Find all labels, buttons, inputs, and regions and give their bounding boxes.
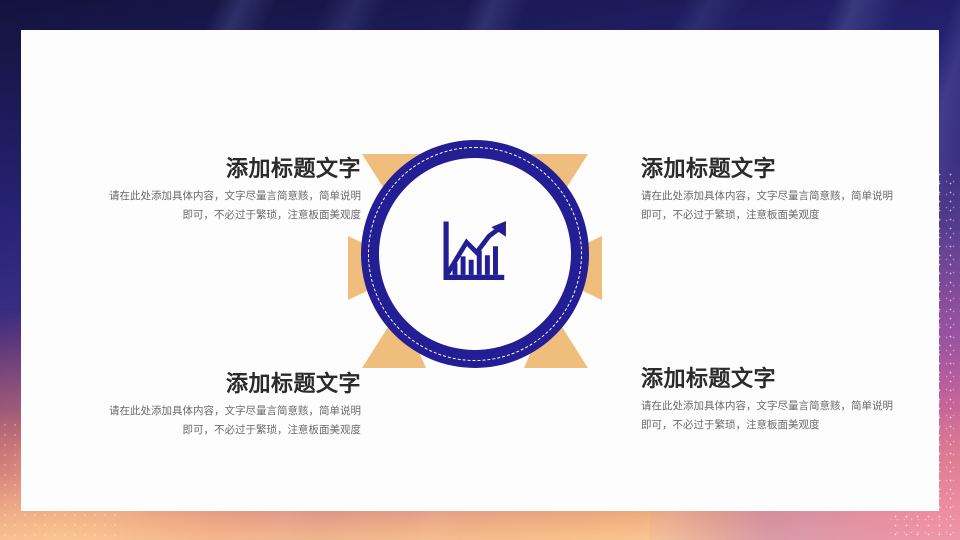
block-body: 请在此处添加具体内容，文字尽量言简意赅，简单说明即可，不必过于繁琐，注意板面美观…: [641, 187, 903, 224]
growth-bar-chart-icon: [439, 217, 511, 289]
block-title: 添加标题文字: [641, 156, 903, 181]
block-title: 添加标题文字: [99, 371, 361, 396]
block-title: 添加标题文字: [641, 366, 903, 391]
text-block-bottom-right: 添加标题文字 请在此处添加具体内容，文字尽量言简意赅，简单说明即可，不必过于繁琐…: [641, 366, 903, 434]
text-block-top-right: 添加标题文字 请在此处添加具体内容，文字尽量言简意赅，简单说明即可，不必过于繁琐…: [641, 156, 903, 224]
block-body: 请在此处添加具体内容，文字尽量言简意赅，简单说明即可，不必过于繁琐，注意板面美观…: [99, 402, 361, 439]
text-block-bottom-left: 添加标题文字 请在此处添加具体内容，文字尽量言简意赅，简单说明即可，不必过于繁琐…: [99, 371, 361, 439]
text-block-top-left: 添加标题文字 请在此处添加具体内容，文字尽量言简意赅，简单说明即可，不必过于繁琐…: [99, 156, 361, 224]
block-body: 请在此处添加具体内容，文字尽量言简意赅，简单说明即可，不必过于繁琐，注意板面美观…: [641, 397, 903, 434]
slide-canvas: 添加标题文字 请在此处添加具体内容，文字尽量言简意赅，简单说明即可，不必过于繁琐…: [0, 0, 960, 540]
block-body: 请在此处添加具体内容，文字尽量言简意赅，简单说明即可，不必过于繁琐，注意板面美观…: [99, 187, 361, 224]
block-title: 添加标题文字: [99, 156, 361, 181]
content-card: 添加标题文字 请在此处添加具体内容，文字尽量言简意赅，简单说明即可，不必过于繁琐…: [21, 30, 939, 511]
center-graphic: [340, 118, 610, 388]
